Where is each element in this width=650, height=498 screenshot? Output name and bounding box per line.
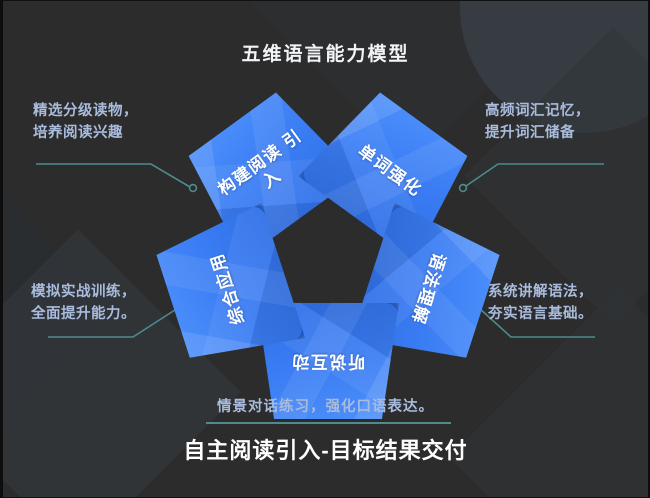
bottom-divider — [206, 422, 451, 424]
bottom-caption: 情景对话练习，强化口语表达。 — [3, 395, 648, 416]
callout-reading-intro: 精选分级读物， 培养阅读兴趣 — [33, 101, 138, 145]
callout-application: 模拟实战训练， 全面提升能力。 — [31, 282, 136, 326]
bottom-title: 自主阅读引入-目标结果交付 — [3, 433, 648, 465]
callout-vocabulary: 高频词汇记忆， 提升词汇储备 — [485, 101, 590, 145]
callout-grammar: 系统讲解语法， 夯实语言基础。 — [488, 282, 593, 326]
infographic-canvas: 五维语言能力模型 构建阅读 引入单词强化语法理解听说互动综合应用 精选分级读物，… — [0, 0, 650, 498]
